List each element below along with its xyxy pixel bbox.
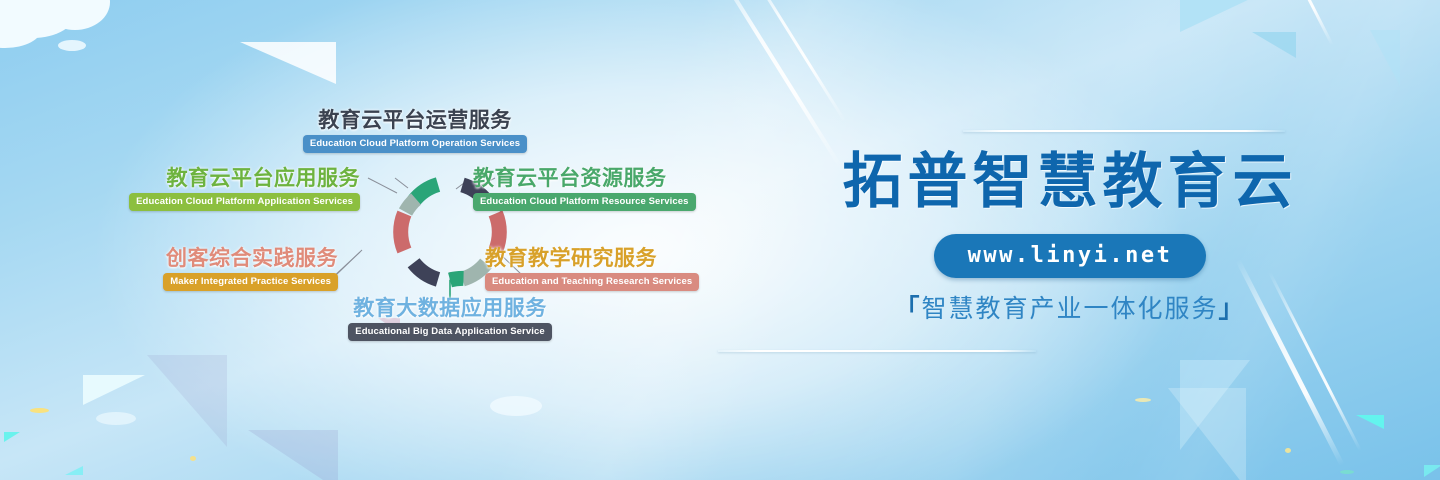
triangle-decor	[147, 355, 227, 447]
service-label-operation-en: Education Cloud Platform Operation Servi…	[303, 135, 527, 153]
page-title: 拓普智慧教育云	[700, 152, 1440, 212]
service-label-application[interactable]: 教育云平台应用服务 Education Cloud Platform Appli…	[30, 168, 360, 211]
triangle-decor	[83, 375, 145, 405]
banner-root: 教育云平台运营服务 Education Cloud Platform Opera…	[0, 0, 1440, 480]
donut-segment-maker	[414, 263, 438, 280]
service-label-application-en: Education Cloud Platform Application Ser…	[129, 193, 360, 211]
divider-line-bottom	[718, 350, 1036, 352]
service-label-maker-cn: 创客综合实践服务	[20, 248, 338, 269]
service-label-bigdata[interactable]: 教育大数据应用服务 Educational Big Data Applicati…	[255, 298, 645, 341]
tagline-open-bracket: 「	[894, 294, 921, 323]
triangle-decor	[248, 430, 338, 480]
brand-panel: 拓普智慧教育云 www.linyi.net 「智慧教育产业一体化服务」	[700, 0, 1440, 480]
service-label-application-cn: 教育云平台应用服务	[30, 168, 360, 189]
tagline-close-bracket: 」	[1219, 294, 1246, 323]
cloud-icon	[0, 0, 76, 38]
service-label-maker-en: Maker Integrated Practice Services	[163, 273, 338, 291]
cloud-icon	[40, 0, 110, 30]
triangle-decor	[65, 466, 83, 475]
service-label-operation-cn: 教育云平台运营服务	[205, 110, 625, 131]
divider-line-top	[963, 130, 1285, 132]
confetti-dot	[190, 456, 196, 461]
cloud-icon	[490, 396, 542, 416]
cloud-icon	[96, 412, 136, 425]
service-label-research-en: Education and Teaching Research Services	[485, 273, 699, 291]
triangle-decor	[240, 42, 336, 84]
tagline-text: 智慧教育产业一体化服务	[921, 294, 1218, 323]
donut-segment-bigdata	[463, 263, 487, 279]
confetti-dot	[30, 408, 49, 413]
donut-segment-application-alt	[406, 199, 417, 212]
service-label-bigdata-cn: 教育大数据应用服务	[255, 298, 645, 319]
service-label-resource-en: Education Cloud Platform Resource Servic…	[473, 193, 696, 211]
donut-segment-research	[496, 214, 500, 251]
triangle-decor	[4, 432, 20, 442]
donut-segment-operation	[414, 185, 438, 202]
website-url-badge[interactable]: www.linyi.net	[700, 234, 1440, 278]
cloud-icon	[58, 40, 86, 51]
website-url-text: www.linyi.net	[934, 234, 1207, 278]
service-wheel-diagram: 教育云平台运营服务 Education Cloud Platform Opera…	[150, 100, 680, 360]
service-label-bigdata-en: Educational Big Data Application Service	[348, 323, 551, 341]
cloud-icon	[0, 8, 42, 48]
donut-segment-bigdata-alt	[450, 278, 464, 280]
tagline: 「智慧教育产业一体化服务」	[700, 294, 1440, 324]
service-label-maker[interactable]: 创客综合实践服务 Maker Integrated Practice Servi…	[20, 248, 338, 291]
donut-segment-application	[401, 214, 405, 251]
service-label-operation[interactable]: 教育云平台运营服务 Education Cloud Platform Opera…	[205, 110, 625, 153]
